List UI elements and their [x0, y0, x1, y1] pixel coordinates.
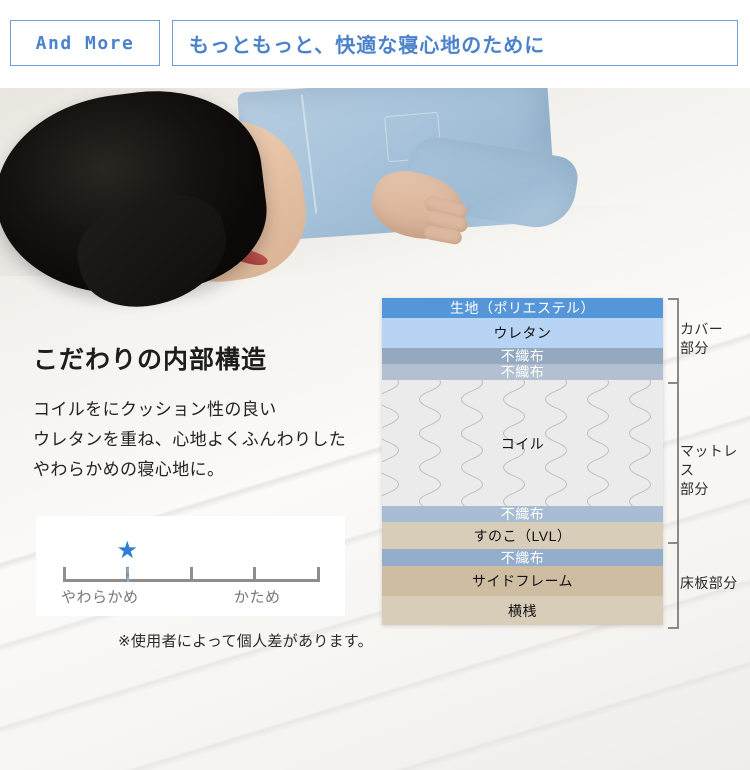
- sleeping-person-illustration: [0, 88, 530, 318]
- layer-生地（ポリエステル）: 生地（ポリエステル）: [382, 298, 663, 318]
- bracket-label: 床板部分: [680, 574, 738, 593]
- firmness-card: ★ やわらかめ かため: [36, 516, 345, 616]
- firmness-scale: ★: [63, 564, 320, 582]
- layer-横桟: 横桟: [382, 596, 663, 625]
- body-line: コイルをにクッション性の良い: [33, 395, 363, 425]
- layer-不織布: 不織布: [382, 364, 663, 380]
- bracket: [668, 382, 679, 544]
- layer-ウレタン: ウレタン: [382, 318, 663, 348]
- bracket-label: マットレス部分: [680, 442, 750, 499]
- body-line: ウレタンを重ね、心地よくふんわりした: [33, 425, 363, 455]
- tagline-bar: もっともっと、快適な寝心地のために: [172, 20, 738, 66]
- bracket-label-line: 部分: [680, 339, 723, 358]
- bracket-label-line: カバー: [680, 320, 723, 339]
- page-root: And More もっともっと、快適な寝心地のために: [0, 0, 750, 770]
- bracket: [668, 298, 679, 384]
- bracket: [668, 542, 679, 629]
- scale-tick: [63, 567, 66, 582]
- layer-サイドフレーム: サイドフレーム: [382, 566, 663, 596]
- mattress-layer-diagram: 生地（ポリエステル）ウレタン不織布不織布コイル不織布すのこ（LVL）不織布サイド…: [382, 298, 663, 625]
- bracket-label: カバー部分: [680, 320, 723, 358]
- marker-stem: [127, 568, 129, 582]
- layer-label: コイル: [382, 434, 663, 454]
- scale-label-soft: やわらかめ: [61, 586, 139, 607]
- tagline-text: もっともっと、快適な寝心地のために: [189, 29, 545, 58]
- body-line: やわらかめの寝心地に。: [33, 455, 363, 485]
- layer-すのこ（LVL）: すのこ（LVL）: [382, 522, 663, 549]
- bracket-label-line: 部分: [680, 480, 750, 499]
- disclaimer-note: ※使用者によって個人差があります。: [118, 630, 373, 651]
- scale-label-firm: かため: [234, 586, 281, 607]
- and-more-badge: And More: [10, 20, 160, 66]
- body-copy: コイルをにクッション性の良い ウレタンを重ね、心地よくふんわりした やわらかめの…: [33, 395, 363, 485]
- bracket-label-line: 床板部分: [680, 574, 738, 593]
- section-headline: こだわりの内部構造: [33, 340, 267, 376]
- scale-tick: [317, 567, 320, 582]
- and-more-label: And More: [36, 33, 135, 54]
- layer-coil: コイル: [382, 380, 663, 506]
- bracket-label-line: マットレス: [680, 442, 750, 480]
- layer-不織布: 不織布: [382, 549, 663, 566]
- scale-tick: [190, 567, 193, 582]
- page-header: And More もっともっと、快適な寝心地のために: [0, 0, 750, 88]
- star-marker-icon: ★: [116, 540, 138, 562]
- layer-不織布: 不織布: [382, 506, 663, 522]
- scale-tick: [253, 567, 256, 582]
